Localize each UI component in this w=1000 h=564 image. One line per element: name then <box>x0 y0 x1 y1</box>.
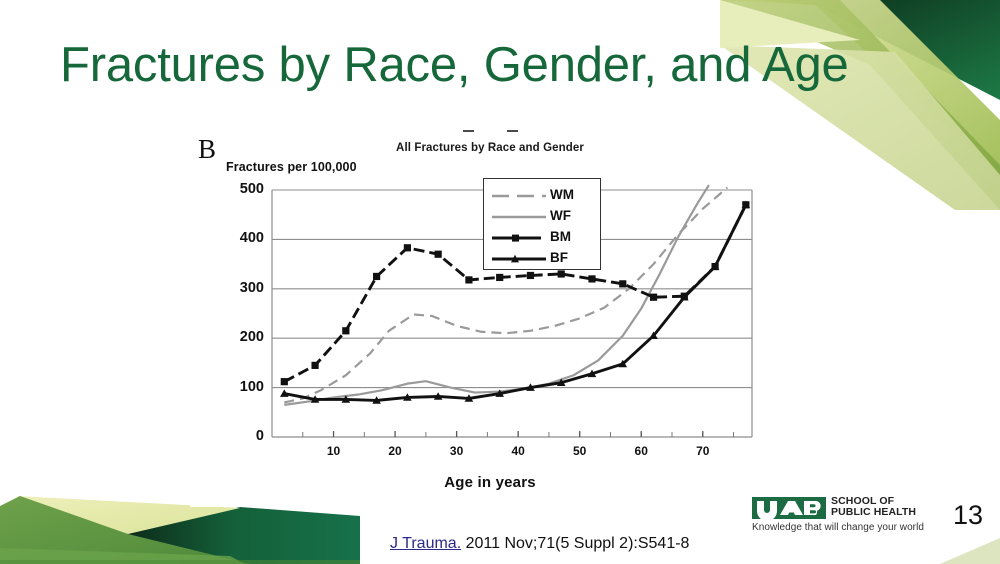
chart-figure: B All Fractures by Race and Gender Fract… <box>190 112 790 507</box>
uab-wordmark-icon <box>752 497 826 519</box>
plot-area: 0100200300400500 10203040506070 <box>190 112 790 507</box>
x-tick-label: 30 <box>440 444 474 458</box>
y-tick-label: 200 <box>218 329 264 345</box>
uab-logo-block: SCHOOL OF PUBLIC HEALTH Knowledge that w… <box>752 496 948 542</box>
legend-item-bf: BF <box>484 247 600 268</box>
legend-swatch-wf <box>490 210 548 222</box>
x-tick-label: 10 <box>317 444 351 458</box>
citation-text: 2011 Nov;71(5 Suppl 2):S541-8 <box>461 535 689 552</box>
slide-canvas: Fractures by Race, Gender, and Age B All… <box>0 0 1000 564</box>
y-tick-label: 0 <box>218 428 264 444</box>
legend-label-wf: WF <box>550 209 571 222</box>
x-tick-label: 20 <box>378 444 412 458</box>
legend-label-bf: BF <box>550 251 568 264</box>
y-tick-label: 100 <box>218 379 264 395</box>
school-line-2: PUBLIC HEALTH <box>831 507 916 518</box>
legend-item-bm: BM <box>484 226 600 247</box>
citation-link[interactable]: J Trauma. <box>390 535 461 552</box>
x-tick-label: 40 <box>501 444 535 458</box>
y-tick-label: 400 <box>218 230 264 246</box>
x-tick-label: 60 <box>624 444 658 458</box>
x-tick-label: 50 <box>563 444 597 458</box>
y-tick-label: 500 <box>218 181 264 197</box>
legend-swatch-bf <box>490 252 548 264</box>
uab-logo-icon <box>752 497 826 519</box>
y-tick-label: 300 <box>218 280 264 296</box>
uab-school-name: SCHOOL OF PUBLIC HEALTH <box>831 496 916 517</box>
page-title: Fractures by Race, Gender, and Age <box>60 36 850 94</box>
slide-number: 13 <box>953 500 983 531</box>
chart-legend: WM WF BM BF <box>483 178 601 270</box>
legend-item-wm: WM <box>484 184 600 205</box>
legend-swatch-bm <box>490 231 548 243</box>
x-tick-label: 70 <box>686 444 720 458</box>
uab-tagline: Knowledge that will change your world <box>752 522 948 533</box>
legend-label-wm: WM <box>550 188 574 201</box>
school-line-1: SCHOOL OF <box>831 496 916 507</box>
citation: J Trauma. 2011 Nov;71(5 Suppl 2):S541-8 <box>390 535 689 553</box>
legend-label-bm: BM <box>550 230 571 243</box>
legend-item-wf: WF <box>484 205 600 226</box>
legend-swatch-wm <box>490 189 548 201</box>
